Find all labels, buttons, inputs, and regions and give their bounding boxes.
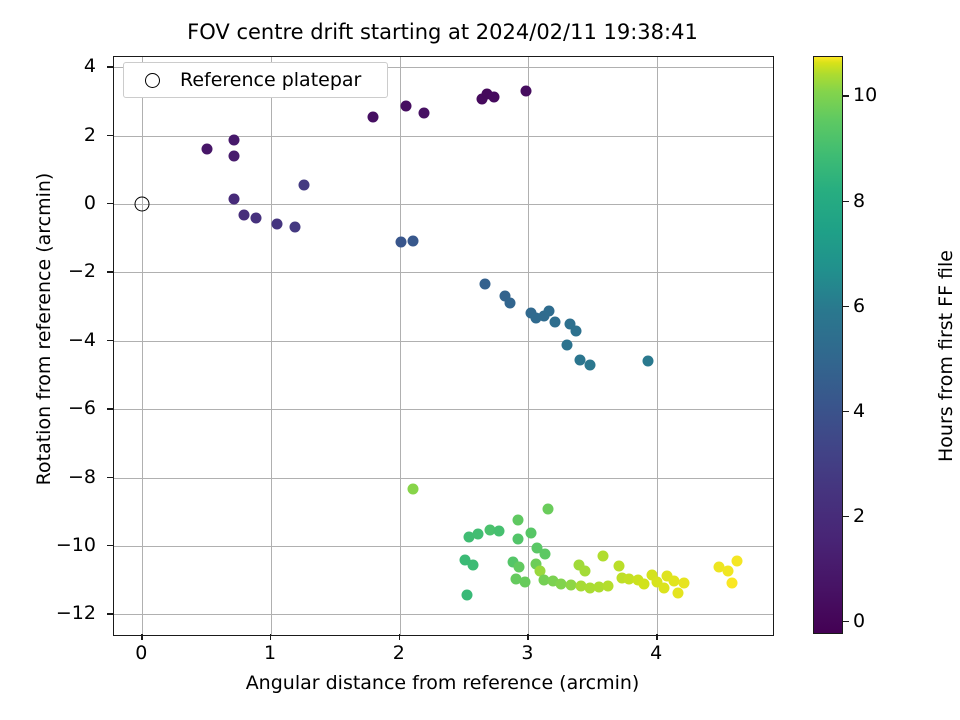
scatter-point (228, 135, 239, 146)
y-axis-tick-label: −6 (68, 397, 96, 419)
colorbar-label: Hours from first FF file (935, 96, 957, 616)
y-axis-tick (107, 340, 113, 341)
scatter-point (574, 354, 585, 365)
scatter-point (493, 526, 504, 537)
scatter-point (731, 556, 742, 567)
x-axis-tick-label: 1 (264, 642, 276, 664)
y-axis-label: Rotation from reference (arcmin) (33, 29, 55, 629)
y-axis-tick (107, 477, 113, 478)
colorbar-tick (843, 95, 849, 96)
y-axis-tick (107, 545, 113, 546)
scatter-points-layer (114, 57, 773, 635)
y-axis-tick-label: −8 (68, 466, 96, 488)
colorbar-tick-label: 0 (853, 610, 865, 632)
x-axis-tick (656, 634, 657, 640)
scatter-point (407, 236, 418, 247)
scatter-point (505, 298, 516, 309)
scatter-point (519, 576, 530, 587)
y-axis-tick-label: −2 (68, 260, 96, 282)
x-axis-label: Angular distance from reference (arcmin) (113, 672, 772, 694)
y-axis-tick (107, 66, 113, 67)
scatter-point (396, 237, 407, 248)
y-axis-tick (107, 408, 113, 409)
scatter-point (488, 92, 499, 103)
y-axis-tick-label: −10 (56, 534, 96, 556)
colorbar-tick (843, 516, 849, 517)
x-axis-tick-label: 0 (135, 642, 147, 664)
y-axis-tick (107, 271, 113, 272)
colorbar-tick (843, 201, 849, 202)
x-axis-tick-label: 2 (393, 642, 405, 664)
plot-area (113, 56, 774, 636)
colorbar-tick-label: 4 (853, 400, 865, 422)
scatter-point (479, 279, 490, 290)
y-axis-tick (107, 203, 113, 204)
y-axis-tick-label: 2 (84, 124, 96, 146)
scatter-point (580, 565, 591, 576)
x-axis-tick (527, 634, 528, 640)
scatter-point (726, 578, 737, 589)
scatter-point (473, 529, 484, 540)
scatter-point (672, 588, 683, 599)
scatter-point (520, 85, 531, 96)
x-axis-tick (270, 634, 271, 640)
scatter-point (603, 581, 614, 592)
colorbar-tick-label: 8 (853, 190, 865, 212)
scatter-point (598, 550, 609, 561)
scatter-point (668, 575, 679, 586)
scatter-point (613, 560, 624, 571)
y-axis-tick-label: −4 (68, 329, 96, 351)
colorbar-tick-label: 2 (853, 505, 865, 527)
scatter-point (272, 218, 283, 229)
scatter-point (250, 213, 261, 224)
reference-platepar-icon (145, 73, 160, 88)
colorbar-tick (843, 411, 849, 412)
y-axis-tick-label: −12 (56, 602, 96, 624)
scatter-point (514, 562, 525, 573)
colorbar-tick-label: 6 (853, 295, 865, 317)
colorbar-tick-label: 10 (853, 84, 877, 106)
scatter-point (722, 565, 733, 576)
scatter-point (526, 528, 537, 539)
scatter-point (419, 107, 430, 118)
scatter-point (461, 589, 472, 600)
scatter-point (585, 360, 596, 371)
colorbar-gradient (813, 56, 843, 634)
scatter-point (658, 582, 669, 593)
page-title: FOV centre drift starting at 2024/02/11 … (113, 20, 772, 44)
scatter-point (401, 100, 412, 111)
scatter-point (555, 578, 566, 589)
x-axis-tick-label: 3 (521, 642, 533, 664)
scatter-point (407, 483, 418, 494)
y-axis-tick-label: 0 (84, 192, 96, 214)
scatter-point (228, 150, 239, 161)
legend: Reference platepar (123, 62, 388, 98)
legend-marker-box (124, 73, 180, 88)
y-axis-tick-label: 4 (84, 55, 96, 77)
scatter-point (290, 221, 301, 232)
y-axis-tick (107, 135, 113, 136)
scatter-point (562, 339, 573, 350)
scatter-point (513, 514, 524, 525)
x-axis-tick (141, 634, 142, 640)
colorbar-tick (843, 306, 849, 307)
scatter-point (550, 317, 561, 328)
scatter-point (513, 533, 524, 544)
scatter-point (228, 194, 239, 205)
scatter-point (367, 111, 378, 122)
scatter-point (468, 559, 479, 570)
x-axis-tick (399, 634, 400, 640)
scatter-point (643, 355, 654, 366)
colorbar (813, 56, 843, 634)
scatter-point (639, 579, 650, 590)
scatter-point (542, 504, 553, 515)
x-axis-tick-label: 4 (650, 642, 662, 664)
scatter-point (679, 578, 690, 589)
scatter-point (571, 325, 582, 336)
scatter-point (540, 548, 551, 559)
reference-platepar-marker (135, 197, 150, 212)
scatter-point (238, 209, 249, 220)
colorbar-tick (843, 621, 849, 622)
y-axis-tick (107, 613, 113, 614)
chart-figure: FOV centre drift starting at 2024/02/11 … (0, 0, 960, 720)
legend-entry-label: Reference platepar (180, 69, 361, 91)
scatter-point (201, 144, 212, 155)
scatter-point (299, 180, 310, 191)
scatter-point (544, 306, 555, 317)
